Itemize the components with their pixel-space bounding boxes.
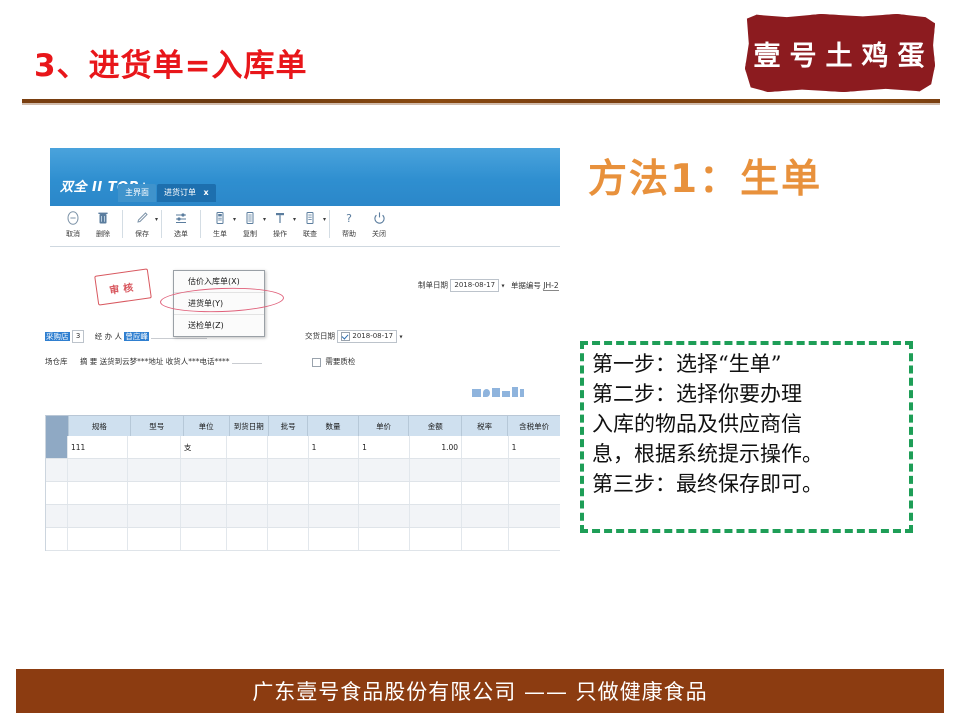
tab-purchase-order-label: 进货订单 [164, 188, 196, 197]
toolbar-save-button[interactable]: 保存 ▾ [127, 208, 157, 239]
cell-tax-rate[interactable] [462, 482, 509, 504]
cell-model[interactable] [128, 528, 180, 550]
field-summary: 场仓库 摘 要 送货到云梦***地址 收货人***电话**** [45, 356, 262, 367]
cell-tax-price[interactable] [509, 482, 560, 504]
grid-header-unit-price[interactable]: 单价 [359, 416, 410, 436]
svg-text:?: ? [346, 212, 352, 225]
toolbar-separator-2 [161, 210, 162, 238]
cell-tax-rate[interactable] [462, 505, 509, 527]
handler-value[interactable]: 曾应峰 [124, 332, 149, 341]
toolbar-delete-button[interactable]: 删除 [88, 208, 118, 239]
chevron-down-icon[interactable]: ▾ [323, 216, 326, 223]
column-icon[interactable] [512, 387, 518, 397]
row-selector[interactable] [46, 459, 68, 481]
cell-tax-price[interactable] [509, 528, 560, 550]
handler-underline [151, 338, 207, 339]
cell-amount[interactable] [410, 528, 462, 550]
step-line-3: 入库的物品及供应商信 [592, 409, 903, 439]
approval-stamp: 审核 [94, 268, 152, 305]
table-row[interactable] [46, 482, 560, 505]
cell-amount[interactable] [410, 482, 462, 504]
grid-header-qty[interactable]: 数量 [308, 416, 359, 436]
calendar-icon[interactable]: ▾ [399, 334, 402, 341]
field-make-date: 制单日期 2018-08-17 ▾ 单据编号 JH-2 [418, 279, 559, 292]
chart-bar-icon[interactable] [492, 388, 500, 397]
toolbar-cancel-button[interactable]: 取消 [58, 208, 88, 239]
make-date-label: 制单日期 [418, 281, 448, 290]
cell-tax-price[interactable]: 1 [509, 436, 560, 458]
deliver-date-checkbox[interactable] [341, 332, 350, 341]
toolbar-separator-4 [329, 210, 330, 238]
logo-char-3: 土 [826, 34, 855, 73]
toolbar-close-label: 关闭 [372, 229, 386, 239]
cell-arrival-date[interactable] [227, 459, 268, 481]
logo-char-4: 鸡 [862, 34, 891, 73]
slide-root: 3、进货单=入库单 壹 号 土 鸡 蛋 方法1：生单 第一步：选择“生单” 第二… [0, 0, 960, 720]
cell-model[interactable] [128, 436, 180, 458]
summary-label: 摘 要 [80, 357, 97, 366]
copy-icon [244, 208, 256, 228]
app-tab-strip: 主界面 进货订单 x [118, 184, 217, 202]
cancel-icon [67, 208, 79, 228]
operate-icon [274, 208, 286, 228]
cell-unit[interactable] [181, 459, 228, 481]
table-row[interactable] [46, 459, 560, 482]
cell-unit[interactable] [181, 505, 228, 527]
chevron-down-icon[interactable]: ▾ [155, 216, 158, 223]
grid-header-amount[interactable]: 金额 [409, 416, 462, 436]
grid-mini-toolbar[interactable] [472, 387, 524, 397]
footer-bar: 广东壹号食品股份有限公司 —— 只做健康食品 [16, 669, 944, 713]
pin-icon[interactable] [483, 389, 490, 397]
cell-unit-price[interactable] [359, 528, 409, 550]
cell-qty[interactable] [309, 505, 359, 527]
step-line-1: 第一步：选择“生单” [592, 349, 903, 379]
toolbar-close-button[interactable]: 关闭 [364, 208, 394, 239]
brand-logo: 壹 号 土 鸡 蛋 [745, 14, 935, 92]
menu-item-purchase-order[interactable]: 进货单(Y) [174, 293, 264, 315]
toolbar-separator-1 [122, 210, 123, 238]
app-toolbar: 取消 删除 保存 ▾ [50, 206, 560, 247]
cell-batch-no[interactable] [268, 505, 309, 527]
method-heading: 方法1：生单 [588, 148, 822, 204]
table-row[interactable] [46, 505, 560, 528]
shop-label: 采购店 [45, 332, 70, 341]
cell-tax-price[interactable] [509, 505, 560, 527]
grid-header-arrival-date[interactable]: 到货日期 [230, 416, 269, 436]
table-row[interactable] [46, 528, 560, 551]
step-line-2: 第二步：选择你要办理 [592, 379, 903, 409]
deliver-date-value: 2018-08-17 [352, 332, 393, 340]
cell-batch-no[interactable] [268, 482, 309, 504]
page-title: 3、进货单=入库单 [34, 40, 308, 85]
steps-callout: 第一步：选择“生单” 第二步：选择你要办理 入库的物品及供应商信 息，根据系统提… [580, 341, 913, 533]
summary-value[interactable]: 送货到云梦***地址 收货人***电话**** [100, 357, 230, 366]
cell-batch-no[interactable] [268, 436, 309, 458]
create-order-icon [214, 208, 226, 228]
cell-tax-price[interactable] [509, 459, 560, 481]
field-deliver-date: 交货日期 2018-08-17 ▾ [305, 330, 402, 343]
brand-logo-text: 壹 号 土 鸡 蛋 [745, 14, 935, 92]
toolbar-select-order-label: 选单 [174, 229, 188, 239]
cell-spec[interactable] [68, 528, 128, 550]
cell-arrival-date[interactable] [227, 436, 268, 458]
deliver-date-label: 交货日期 [305, 332, 335, 341]
cell-qty[interactable] [309, 528, 359, 550]
toolbar-help-button[interactable]: ? 帮助 [334, 208, 364, 239]
cell-tax-rate[interactable] [462, 436, 509, 458]
need-check-label: 需要质检 [325, 357, 355, 366]
select-order-icon [174, 208, 188, 228]
row-selector[interactable] [46, 528, 68, 550]
cell-spec[interactable]: 111 [68, 436, 128, 458]
cell-unit-price[interactable] [359, 505, 409, 527]
erp-screenshot: 双全 II TOP+ 主界面 进货订单 x 取消 [40, 148, 560, 570]
cell-amount[interactable]: 1.00 [410, 436, 462, 458]
toolbar-operate-button[interactable]: 操作 ▾ [265, 208, 295, 239]
chevron-down-icon[interactable]: ▾ [501, 283, 504, 290]
toolbar-cancel-label: 取消 [66, 229, 80, 239]
row-selector[interactable] [46, 436, 68, 458]
close-icon[interactable]: x [204, 188, 209, 197]
grid-header-row: 规格 型号 单位 到货日期 批号 数量 单价 金额 税率 含税单价 [46, 416, 560, 436]
cell-unit-price[interactable] [359, 482, 409, 504]
toolbar-link-query-label: 联查 [303, 229, 317, 239]
cell-tax-rate[interactable] [462, 459, 509, 481]
cell-amount[interactable] [410, 459, 462, 481]
grid-header-model[interactable]: 型号 [131, 416, 184, 436]
cell-spec[interactable] [68, 482, 128, 504]
toolbar-separator-3 [200, 210, 201, 238]
toolbar-select-order-button[interactable]: 选单 [166, 208, 196, 239]
cell-qty[interactable]: 1 [309, 436, 359, 458]
cell-arrival-date[interactable] [227, 528, 268, 550]
cell-model[interactable] [128, 482, 180, 504]
cell-batch-no[interactable] [268, 459, 309, 481]
filter-icon[interactable] [520, 389, 524, 397]
cell-qty[interactable] [309, 459, 359, 481]
toolbar-operate-label: 操作 [273, 229, 287, 239]
row-selector[interactable] [46, 482, 68, 504]
toolbar-copy-label: 复制 [243, 229, 257, 239]
cell-unit-price[interactable] [359, 459, 409, 481]
tab-main-label: 主界面 [125, 188, 149, 197]
grid-header-batch-no[interactable]: 批号 [269, 416, 308, 436]
make-date-value[interactable]: 2018-08-17 [450, 279, 499, 292]
save-pen-icon [135, 208, 149, 228]
step-line-5: 第三步：最终保存即可。 [592, 469, 903, 499]
grid-header-spec[interactable]: 规格 [69, 416, 131, 436]
deliver-date-value-wrap[interactable]: 2018-08-17 [337, 330, 397, 343]
grid-header-tax-rate[interactable]: 税率 [462, 416, 508, 436]
logo-char-1: 壹 [754, 34, 783, 73]
line-items-grid: 规格 型号 单位 到货日期 批号 数量 单价 金额 税率 含税单价 111 支 … [45, 415, 560, 551]
logo-char-5: 蛋 [898, 34, 927, 73]
cell-qty[interactable] [309, 482, 359, 504]
row-selector[interactable] [46, 505, 68, 527]
trash-icon [97, 208, 109, 228]
help-icon: ? [343, 208, 355, 228]
group-icon[interactable] [502, 391, 510, 397]
menu-item-inspection-order[interactable]: 送检单(Z) [174, 315, 264, 336]
approval-stamp-text: 审核 [95, 270, 150, 305]
cell-unit-price[interactable]: 1 [359, 436, 409, 458]
cell-amount[interactable] [410, 505, 462, 527]
cell-arrival-date[interactable] [227, 482, 268, 504]
grid-header-tax-price[interactable]: 含税单价 [508, 416, 560, 436]
toolbar-help-label: 帮助 [342, 229, 356, 239]
doc-no-label: 单据编号 [511, 281, 541, 290]
toolbar-delete-label: 删除 [96, 229, 110, 239]
toolbar-copy-button[interactable]: 复制 ▾ [235, 208, 265, 239]
cell-unit[interactable] [181, 528, 228, 550]
menu-item-estimate-inbound[interactable]: 估价入库单(X) [174, 271, 264, 293]
power-close-icon [373, 208, 386, 228]
footer-text: 广东壹号食品股份有限公司 —— 只做健康食品 [16, 669, 944, 713]
step-line-4: 息，根据系统提示操作。 [592, 439, 903, 469]
grid-header-unit[interactable]: 单位 [184, 416, 230, 436]
link-query-icon [304, 208, 316, 228]
doc-no-value[interactable]: JH-2 [543, 281, 558, 291]
tab-purchase-order[interactable]: 进货订单 x [157, 184, 216, 202]
grid-header-select [46, 416, 69, 436]
toolbar-create-order-label: 生单 [213, 229, 227, 239]
create-order-dropdown-menu[interactable]: 估价入库单(X) 进货单(Y) 送检单(Z) [173, 270, 265, 337]
title-divider-shadow [22, 103, 940, 105]
field-need-check[interactable]: 需要质检 [312, 356, 355, 367]
summary-underline [232, 363, 262, 364]
cell-batch-no[interactable] [268, 528, 309, 550]
cell-arrival-date[interactable] [227, 505, 268, 527]
table-row[interactable]: 111 支 1 1 1.00 1 [46, 436, 560, 459]
logo-char-2: 号 [790, 34, 819, 73]
cell-tax-rate[interactable] [462, 528, 509, 550]
cell-spec[interactable] [68, 459, 128, 481]
cell-spec[interactable] [68, 505, 128, 527]
app-titlebar: 双全 II TOP+ 主界面 进货订单 x [50, 148, 560, 206]
need-check-checkbox[interactable] [312, 358, 321, 367]
tab-main[interactable]: 主界面 [118, 184, 156, 202]
handler-label: 经 办 人 [95, 332, 122, 341]
toolbar-save-label: 保存 [135, 229, 149, 239]
cell-unit[interactable]: 支 [181, 436, 228, 458]
shop-code[interactable]: 3 [72, 330, 84, 343]
cell-unit[interactable] [181, 482, 228, 504]
cell-model[interactable] [128, 505, 180, 527]
toolbar-create-order-button[interactable]: 生单 ▾ [205, 208, 235, 239]
cell-model[interactable] [128, 459, 180, 481]
toolbar-link-query-button[interactable]: 联查 ▾ [295, 208, 325, 239]
warehouse-label[interactable]: 场仓库 [45, 357, 68, 366]
grid-layout-icon[interactable] [472, 389, 481, 397]
